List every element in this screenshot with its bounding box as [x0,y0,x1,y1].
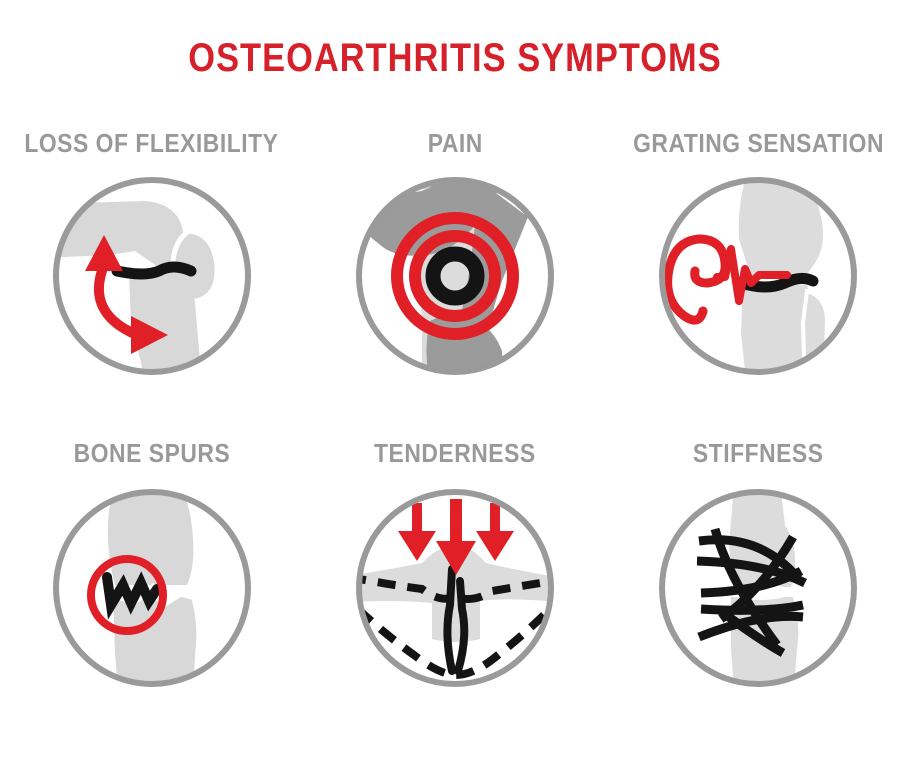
femur-shape [49,201,189,269]
fibula-shape [803,291,827,379]
symptom-icon-grating-sensation [655,173,861,379]
symptom-card-pain: PAIN [303,128,606,438]
joint-line-left [447,569,452,671]
arrow-head-right [476,531,514,561]
ear-soundwave-knee-icon [655,173,861,379]
arrow-shaft-center [450,499,462,543]
band-6 [701,605,803,610]
symptom-label: STIFFNESS [693,438,824,469]
pressure-arrows [398,499,514,575]
page-title: OSTEOARTHRITIS SYMPTOMS [64,36,847,81]
symptom-icon-loss-of-flexibility [49,173,255,379]
symptom-card-loss-of-flexibility: LOSS OF FLEXIBILITY [0,128,303,438]
symptom-card-grating-sensation: GRATING SENSATION [607,128,910,438]
symptoms-grid: LOSS OF FLEXIBILITY [0,128,910,758]
infographic-root: OSTEOARTHRITIS SYMPTOMS LOSS OF FLEXIBIL… [0,0,910,772]
symptom-card-tenderness: TENDERNESS [303,438,606,738]
bone-spur-circle-icon [49,485,255,691]
symptom-label: PAIN [427,128,482,159]
symptom-label: GRATING SENSATION [633,128,884,159]
symptom-card-stiffness: STIFFNESS [607,438,910,738]
symptom-icon-bone-spurs [49,485,255,691]
pressure-arrows-knee-icon [352,485,558,691]
knee-flexion-arrow-icon [49,173,255,379]
cartilage-line [117,267,191,274]
symptom-icon-stiffness [655,485,861,691]
hands-holding-knee-pain-icon [352,173,558,379]
symptom-label: LOSS OF FLEXIBILITY [25,128,279,159]
symptom-card-bone-spurs: BONE SPURS [0,438,303,738]
bound-knee-straps-icon [655,485,861,691]
femur-shape [739,173,823,277]
symptom-icon-tenderness [352,485,558,691]
symptom-label: BONE SPURS [73,438,230,469]
symptom-label: TENDERNESS [374,438,536,469]
symptom-icon-pain [352,173,558,379]
